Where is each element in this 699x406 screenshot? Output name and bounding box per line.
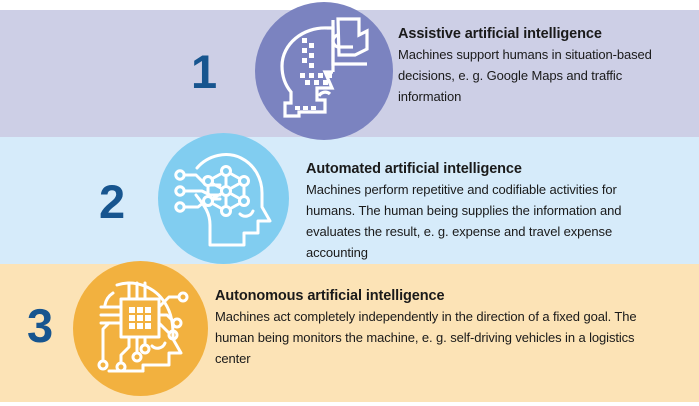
icon-circle-automated — [158, 133, 289, 264]
title-autonomous: Autonomous artificial intelligence — [215, 288, 665, 304]
head-with-cpu-chip-circuit-icon — [73, 261, 208, 396]
text-block-automated: Automated artificial intelligence Machin… — [306, 161, 666, 263]
text-block-autonomous: Autonomous artificial intelligence Machi… — [215, 288, 665, 369]
ai-levels-infographic: 1 2 3 — [0, 0, 699, 406]
icon-circle-autonomous — [73, 261, 208, 396]
body-automated: Machines perform repetitive and codifiab… — [306, 179, 666, 263]
title-assistive: Assistive artificial intelligence — [398, 26, 670, 42]
body-assistive: Machines support humans in situation-bas… — [398, 44, 670, 107]
step-number-3: 3 — [27, 302, 52, 349]
step-number-2: 2 — [99, 178, 124, 225]
title-automated: Automated artificial intelligence — [306, 161, 666, 177]
body-autonomous: Machines act completely independently in… — [215, 306, 665, 369]
icon-circle-assistive — [255, 2, 393, 140]
head-with-neural-network-icon — [158, 133, 289, 264]
text-block-assistive: Assistive artificial intelligence Machin… — [398, 26, 670, 107]
head-with-pixels-and-pointer-icon — [255, 2, 393, 140]
step-number-1: 1 — [191, 48, 216, 95]
